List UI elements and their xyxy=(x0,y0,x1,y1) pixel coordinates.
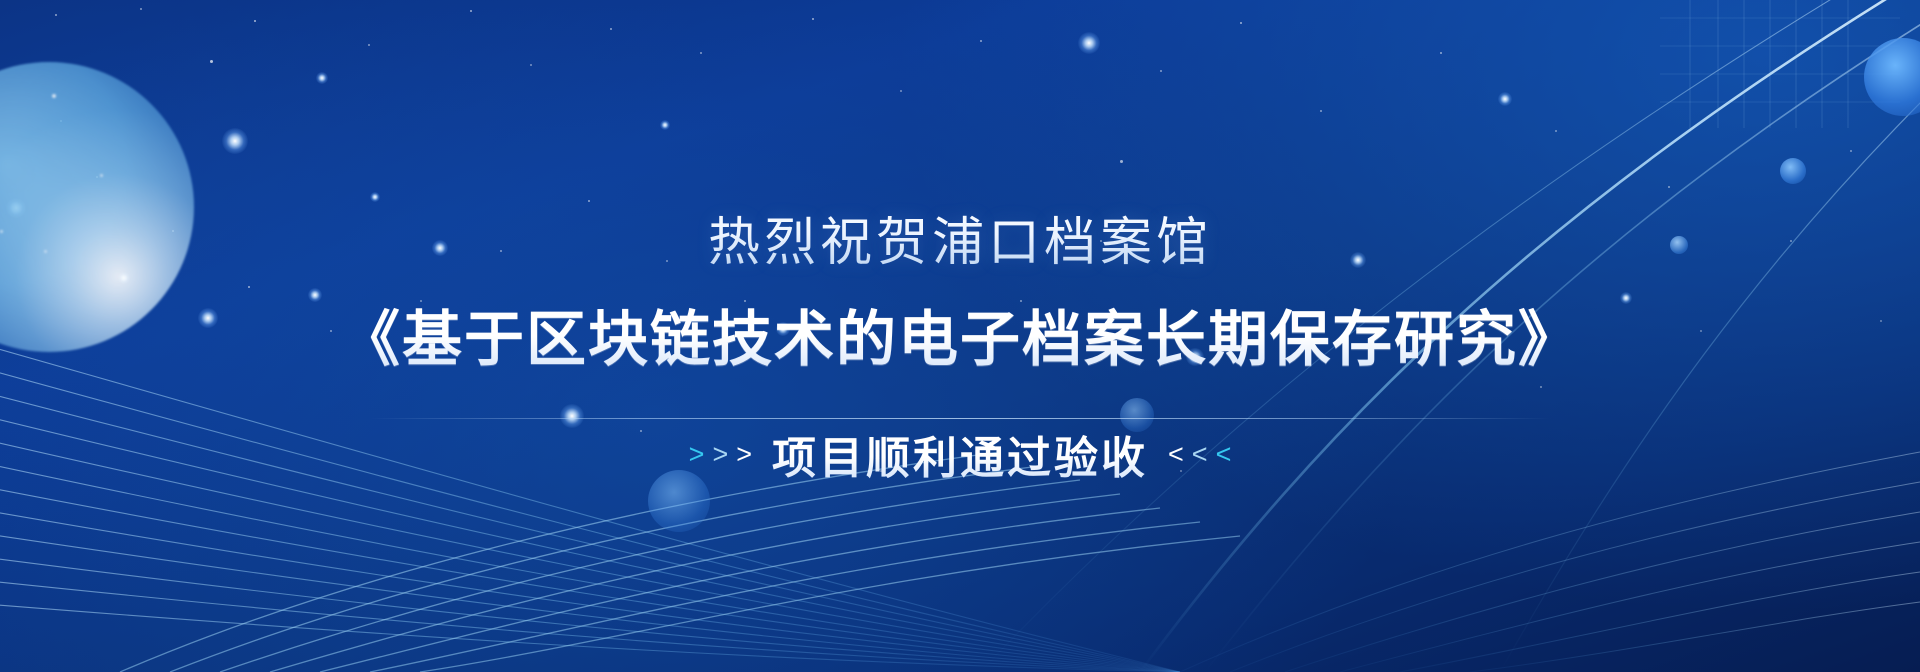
banner-text-block: 热烈祝贺浦口档案馆 《基于区块链技术的电子档案长期保存研究》 > > > 项目顺… xyxy=(0,0,1920,672)
chevron-right-icon-2: > xyxy=(712,441,728,468)
celebration-banner: 热烈祝贺浦口档案馆 《基于区块链技术的电子档案长期保存研究》 > > > 项目顺… xyxy=(0,0,1920,672)
chevron-left-icon-2: < xyxy=(1192,441,1208,468)
chevron-left-icon-3: < xyxy=(1216,441,1232,468)
chevron-right-markers: > > > xyxy=(689,441,752,468)
banner-subtitle: 项目顺利通过验收 xyxy=(772,422,1148,486)
chevron-left-icon-1: < xyxy=(1168,441,1184,468)
chevron-right-icon-1: > xyxy=(689,441,705,468)
banner-headline: 热烈祝贺浦口档案馆 xyxy=(708,200,1212,275)
banner-title: 《基于区块链技术的电子档案长期保存研究》 xyxy=(340,291,1580,378)
chevron-right-icon-3: > xyxy=(736,441,752,468)
chevron-left-markers: < < < xyxy=(1168,441,1231,468)
banner-subtitle-row: > > > 项目顺利通过验收 < < < xyxy=(689,422,1232,486)
